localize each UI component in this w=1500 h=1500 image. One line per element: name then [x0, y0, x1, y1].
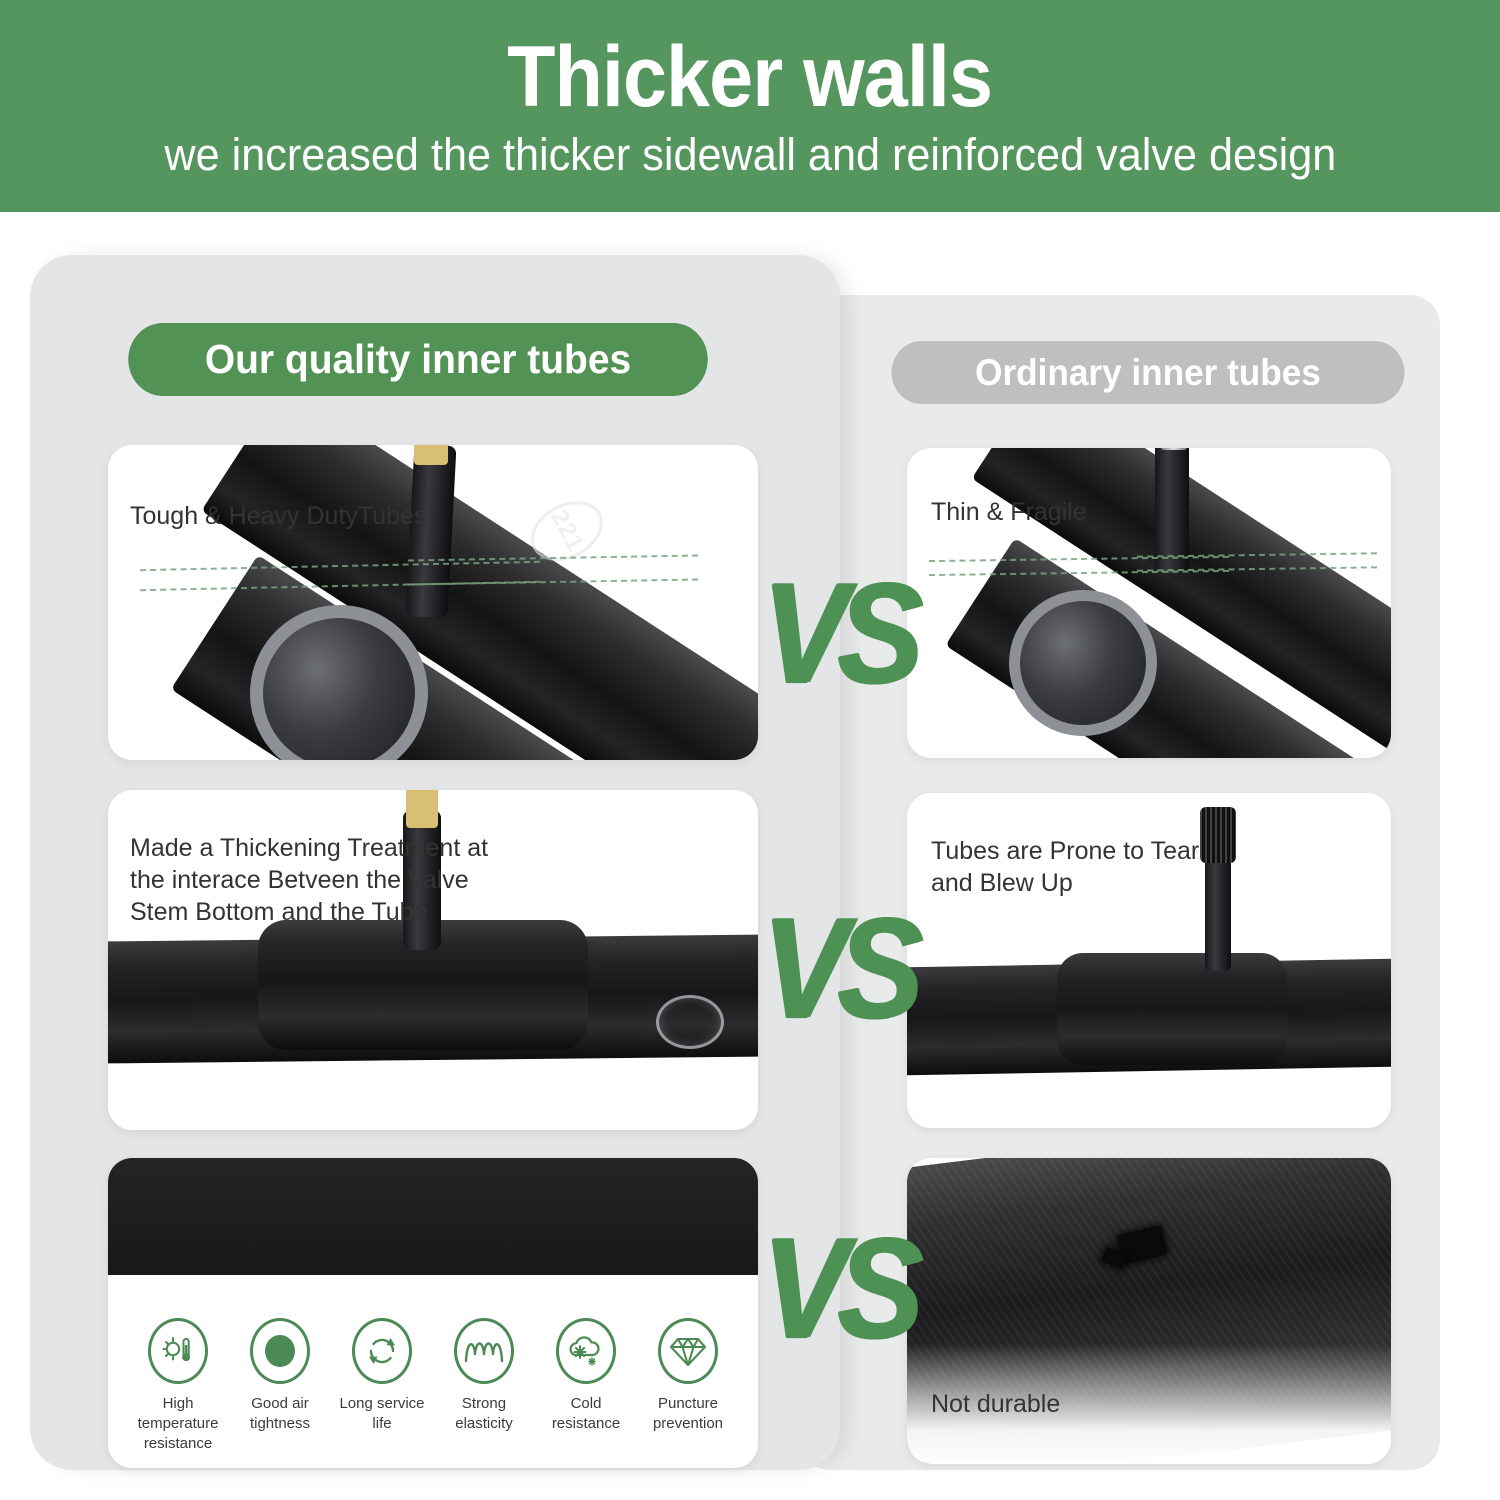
- feature-cold-resistance: Cold resistance: [536, 1318, 636, 1434]
- feature-label: Long service life: [339, 1394, 424, 1434]
- ordinary-card-row3: Not durable: [907, 1158, 1391, 1464]
- ordinary-card-row1: Thin & Fragile: [907, 448, 1391, 758]
- feature-label: Strong elasticity: [455, 1394, 513, 1434]
- feature-ring: [658, 1318, 718, 1384]
- ordinary-label-row2: Tubes are Prone to Tear and Blew Up: [931, 835, 1199, 899]
- feature-strip: High temperature resistance Good air tig…: [128, 1318, 738, 1453]
- feature-label: Cold resistance: [552, 1394, 620, 1434]
- vs-badge-row1: VS: [762, 551, 902, 719]
- tube-inner-bore: [1012, 593, 1154, 733]
- ours-card-row1: 221 Tough & Heavy DutyTubes: [108, 445, 758, 760]
- ours-label-row2: Made a Thickening Treatment at the inter…: [130, 832, 488, 928]
- feature-label: Good air tightness: [250, 1394, 310, 1434]
- vs-badge-row2: VS: [762, 886, 902, 1054]
- valve-chrome-thread: [1161, 448, 1187, 450]
- ordinary-card-row2: Tubes are Prone to Tear and Blew Up: [907, 793, 1391, 1128]
- ours-card-row2: Made a Thickening Treatment at the inter…: [108, 790, 758, 1130]
- filled-circle-icon: [261, 1332, 299, 1370]
- ordinary-tube-photo-row1: [907, 448, 1391, 758]
- page-subtitle: we increased the thicker sidewall and re…: [164, 130, 1336, 180]
- ours-tube-photo-row1: 221: [108, 445, 758, 760]
- sun-thermometer-icon: [159, 1332, 197, 1370]
- feature-strong-elasticity: Strong elasticity: [434, 1318, 534, 1434]
- valve-brass-thread: [406, 790, 438, 828]
- diamond-icon: [669, 1333, 707, 1369]
- snow-cloud-icon: [566, 1332, 606, 1370]
- feature-ring: [250, 1318, 310, 1384]
- infographic-page: Thicker walls we increased the thicker s…: [0, 0, 1500, 1500]
- ordinary-label-row3: Not durable: [931, 1388, 1060, 1420]
- tube-inner-bore: [253, 608, 424, 760]
- feature-label: High temperature resistance: [128, 1394, 228, 1453]
- ordinary-column-heading: Ordinary inner tubes: [892, 341, 1405, 404]
- feature-ring: [556, 1318, 616, 1384]
- feature-ring: [454, 1318, 514, 1384]
- wave-spring-icon: [463, 1334, 505, 1368]
- feature-good-air-tightness: Good air tightness: [230, 1318, 330, 1434]
- feature-long-service-life: Long service life: [332, 1318, 432, 1434]
- page-title: Thicker walls: [508, 32, 993, 122]
- ordinary-label-row1: Thin & Fragile: [931, 496, 1087, 528]
- feature-label: Puncture prevention: [653, 1394, 723, 1434]
- ours-column-heading: Our quality inner tubes: [128, 323, 708, 396]
- valve-brass-thread: [414, 445, 448, 465]
- feature-puncture-prevention: Puncture prevention: [638, 1318, 738, 1434]
- valve-cap: [1200, 807, 1236, 863]
- feature-ring: [352, 1318, 412, 1384]
- header-banner: Thicker walls we increased the thicker s…: [0, 0, 1500, 212]
- ours-label-row1: Tough & Heavy DutyTubes: [130, 500, 426, 532]
- feature-high-temperature-resistance: High temperature resistance: [128, 1318, 228, 1453]
- tube-emboss-mark: [656, 995, 724, 1049]
- feature-ring: [148, 1318, 208, 1384]
- recycle-arrows-icon: [363, 1332, 401, 1370]
- flat-tube-valve-base: [1057, 953, 1287, 1065]
- vs-badge-row3: VS: [762, 1206, 902, 1374]
